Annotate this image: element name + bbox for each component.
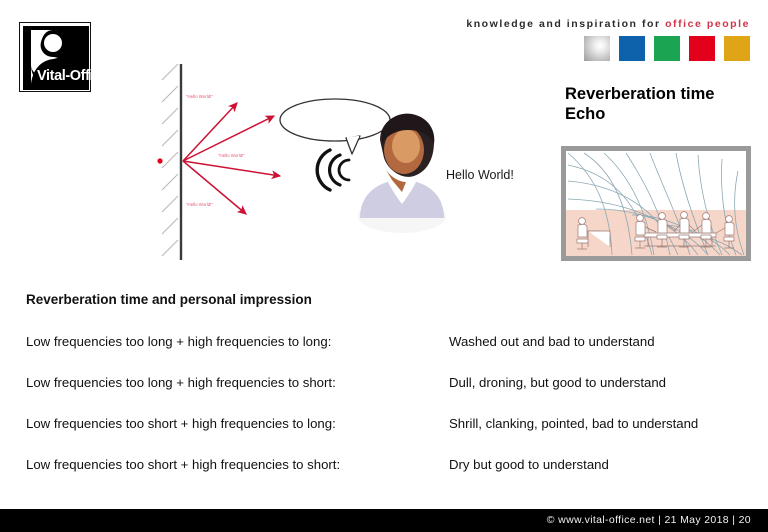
tagline-accent: office people — [665, 18, 750, 30]
table-row: Low frequencies too short + high frequen… — [26, 457, 746, 498]
row-condition: Low frequencies too short + high frequen… — [26, 416, 449, 431]
reflection-arrows — [183, 103, 280, 214]
wall-hatching-icon — [162, 64, 178, 256]
tagline-main: knowledge and inspiration for — [466, 18, 665, 30]
sound-source-dot — [157, 158, 162, 163]
swatch-green — [654, 36, 680, 61]
echo-label-2: "Hello World!" — [218, 153, 245, 158]
speech-bubble-text: Hello World! — [446, 168, 514, 182]
row-result: Shrill, clanking, pointed, bad to unders… — [449, 416, 698, 431]
swatch-gold — [724, 36, 750, 61]
brand-swatches — [584, 36, 750, 61]
row-result: Washed out and bad to understand — [449, 334, 655, 349]
table-row: Low frequencies too short + high frequen… — [26, 416, 746, 457]
impression-table: Low frequencies too long + high frequenc… — [26, 334, 746, 498]
row-condition: Low frequencies too short + high frequen… — [26, 457, 449, 472]
row-condition: Low frequencies too long + high frequenc… — [26, 334, 449, 349]
row-result: Dry but good to understand — [449, 457, 609, 472]
vital-office-logo: Vital-Office® — [19, 22, 91, 92]
row-condition: Low frequencies too long + high frequenc… — [26, 375, 449, 390]
footer-text: © www.vital-office.net | 21 May 2018 | 2… — [547, 514, 751, 526]
slide: Vital-Office® knowledge and inspiration … — [0, 0, 768, 532]
swatch-red — [689, 36, 715, 61]
table-row: Low frequencies too long + high frequenc… — [26, 334, 746, 375]
echo-illustration: "Hello World!" "Hello World!" "Hello Wor… — [150, 58, 450, 268]
swatch-blue — [619, 36, 645, 61]
swatch-silver — [584, 36, 610, 61]
registered-mark: ® — [108, 67, 114, 76]
body-heading: Reverberation time and personal impressi… — [26, 292, 312, 307]
sound-wave-icon — [317, 150, 349, 190]
logo-wordmark: Vital-Office® — [37, 67, 114, 84]
echo-label-1: "Hello World!" — [186, 94, 213, 99]
footer-bar: © www.vital-office.net | 21 May 2018 | 2… — [0, 509, 768, 532]
speech-bubble — [280, 99, 390, 154]
brand-tagline: knowledge and inspiration for office peo… — [466, 18, 750, 30]
echo-label-3: "Hello World!" — [186, 202, 213, 207]
row-result: Dull, droning, but good to understand — [449, 375, 666, 390]
table-row: Low frequencies too long + high frequenc… — [26, 375, 746, 416]
room-figures — [566, 151, 746, 256]
page-title: Reverberation time Echo — [565, 84, 714, 125]
room-acoustics-diagram — [561, 146, 751, 261]
figure-group — [635, 212, 734, 248]
figure-desk — [577, 218, 610, 249]
